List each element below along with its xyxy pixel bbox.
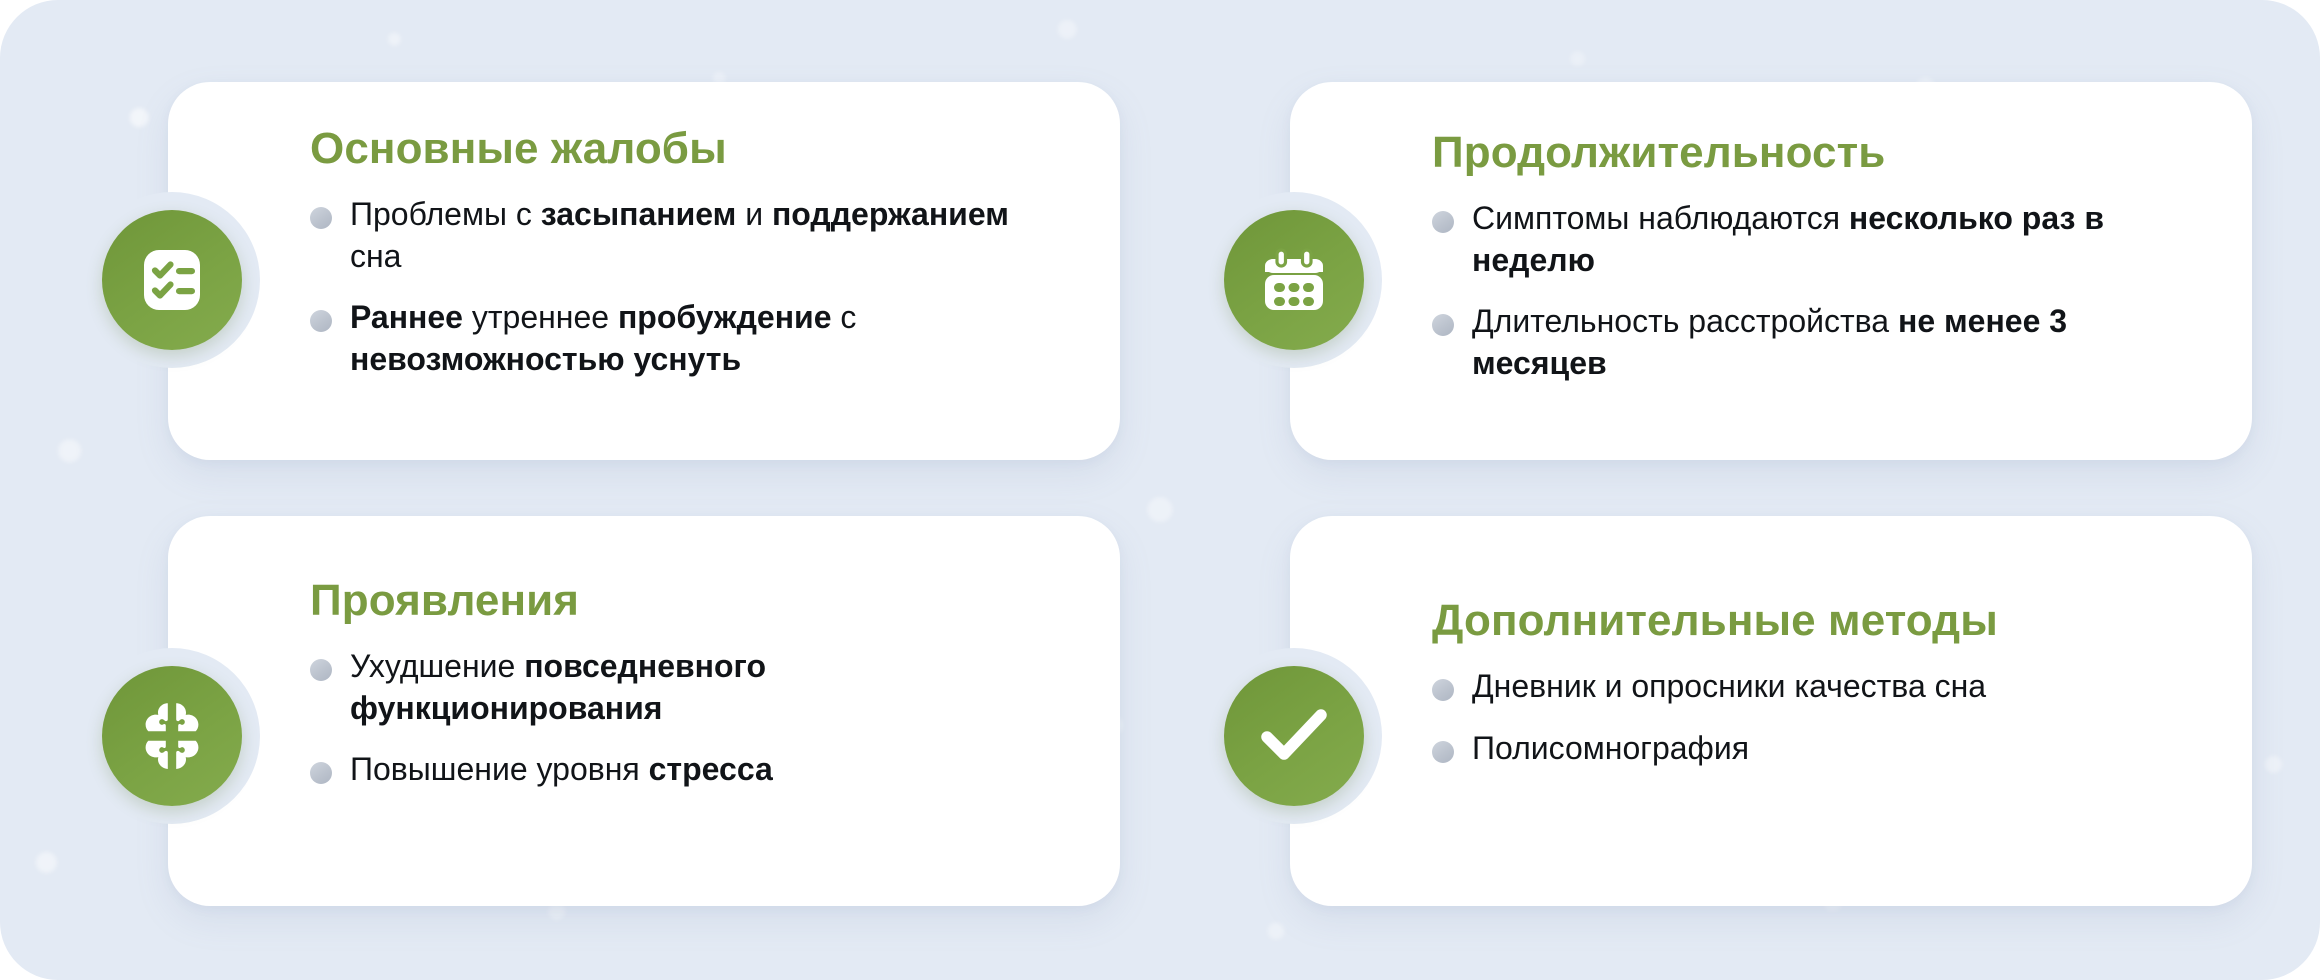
bullet-dot-icon [1432, 211, 1454, 233]
bullet-text: Дневник и опросники качества сна [1472, 668, 1986, 704]
content-additional-methods: Дополнительные методы Дневник и опросник… [1432, 598, 2202, 769]
bullet-item: Повышение уровня стресса [310, 749, 1050, 791]
bullet-item: Дневник и опросники качества сна [1432, 666, 2202, 708]
bullet-text-bold: стресса [649, 751, 773, 787]
content-main-complaints: Основные жалобы Проблемы с засыпанием и … [310, 126, 1050, 381]
badge-wrap-additional-methods [1206, 648, 1382, 824]
card-title: Дополнительные методы [1432, 598, 2202, 644]
bullet-text: Длительность расстройства [1472, 303, 1898, 339]
bullet-list: Проблемы с засыпанием и поддержанием сна… [310, 194, 1050, 380]
card-title: Проявления [310, 578, 1050, 624]
bullet-dot-icon [310, 310, 332, 332]
bullet-text: Повышение уровня [350, 751, 649, 787]
checklist-icon [102, 210, 242, 350]
bullet-text-bold: невозможностью уснуть [350, 341, 741, 377]
bullet-list: Дневник и опросники качества снаПолисомн… [1432, 666, 2202, 769]
brain-puzzle-icon [102, 666, 242, 806]
bullet-item: Проблемы с засыпанием и поддержанием сна [310, 194, 1050, 277]
bullet-dot-icon [310, 659, 332, 681]
bullet-text: Проблемы с [350, 196, 541, 232]
bullet-text-bold: засыпанием [541, 196, 737, 232]
bullet-item: Длительность расстройства не менее 3 мес… [1432, 301, 2202, 384]
card-title: Основные жалобы [310, 126, 1050, 172]
infographic-canvas: Основные жалобы Проблемы с засыпанием и … [0, 0, 2320, 980]
bullet-text: Ухудшение [350, 648, 524, 684]
checkmark-icon [1224, 666, 1364, 806]
bullet-item: Ухудшение повседневного функционирования [310, 646, 1050, 729]
bullet-text-bold: пробуждение [618, 299, 832, 335]
cards-grid: Основные жалобы Проблемы с засыпанием и … [0, 0, 2320, 980]
bullet-dot-icon [1432, 741, 1454, 763]
bullet-text: Полисомнография [1472, 730, 1749, 766]
bullet-list: Симптомы наблюдаются несколько раз в нед… [1432, 198, 2202, 384]
content-manifestations: Проявления Ухудшение повседневного функц… [310, 578, 1050, 791]
bullet-text: Симптомы наблюдаются [1472, 200, 1849, 236]
badge-wrap-duration [1206, 192, 1382, 368]
bullet-dot-icon [1432, 314, 1454, 336]
calendar-icon [1224, 210, 1364, 350]
bullet-text: с [831, 299, 856, 335]
badge-wrap-manifestations [84, 648, 260, 824]
badge-wrap-main-complaints [84, 192, 260, 368]
bullet-text-bold: Раннее [350, 299, 463, 335]
bullet-dot-icon [310, 762, 332, 784]
card-title: Продолжительность [1432, 130, 2202, 176]
bullet-text: утреннее [463, 299, 618, 335]
bullet-dot-icon [1432, 679, 1454, 701]
content-duration: Продолжительность Симптомы наблюдаются н… [1432, 130, 2202, 385]
bullet-item: Полисомнография [1432, 728, 2202, 770]
bullet-item: Симптомы наблюдаются несколько раз в нед… [1432, 198, 2202, 281]
bullet-list: Ухудшение повседневного функционирования… [310, 646, 1050, 791]
bullet-item: Раннее утреннее пробуждение с невозможно… [310, 297, 1050, 380]
bullet-text-bold: поддержанием [772, 196, 1009, 232]
bullet-text: и [736, 196, 772, 232]
bullet-text: сна [350, 238, 401, 274]
bullet-dot-icon [310, 207, 332, 229]
